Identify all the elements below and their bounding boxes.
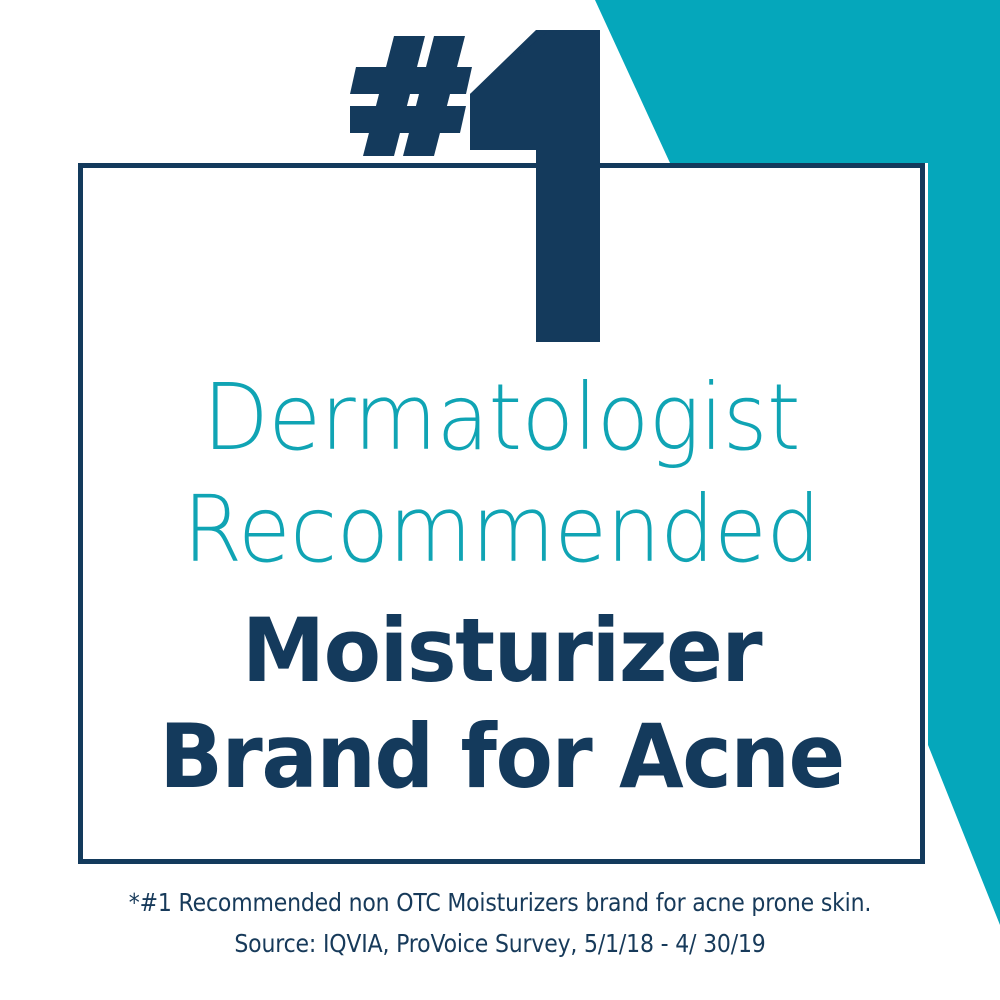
- footnote-line-source: Source: IQVIA, ProVoice Survey, 5/1/18 -…: [60, 923, 940, 964]
- headline-line-brand-for-acne: Brand for Acne: [99, 704, 904, 810]
- headline-line-recommended: Recommended: [108, 474, 896, 586]
- hash-symbol-icon: [350, 36, 472, 156]
- promo-graphic: Dermatologist Recommended Moisturizer Br…: [0, 0, 1000, 1000]
- headline-stack: Dermatologist Recommended Moisturizer Br…: [78, 362, 925, 810]
- footnote-line-claim: *#1 Recommended non OTC Moisturizers bra…: [60, 882, 940, 923]
- footnote-disclaimer: *#1 Recommended non OTC Moisturizers bra…: [0, 882, 1000, 964]
- headline-line-moisturizer: Moisturizer: [99, 598, 904, 704]
- headline-line-dermatologist: Dermatologist: [108, 362, 896, 474]
